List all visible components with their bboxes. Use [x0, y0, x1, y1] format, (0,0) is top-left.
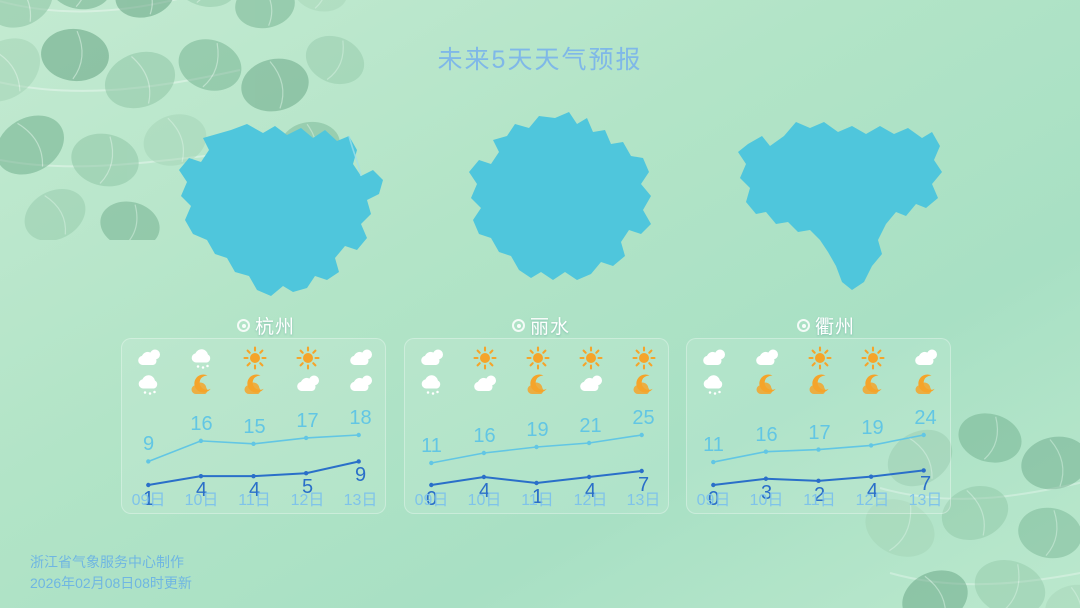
low-temp-value: 9 — [355, 464, 366, 487]
footer: 浙江省气象服务中心制作 2026年02月08日08时更新 — [30, 552, 192, 594]
weather-icons — [122, 345, 175, 401]
high-temp-line — [148, 435, 358, 461]
high-temp-value: 17 — [808, 422, 830, 445]
date-label: 13日 — [899, 486, 952, 510]
map-shape-quzhou — [738, 122, 942, 290]
weather-icons — [175, 345, 228, 401]
sun-icon — [523, 345, 553, 371]
date-label: 13日 — [334, 486, 387, 510]
moon-icon — [858, 371, 888, 397]
cloudy-icon — [699, 345, 729, 371]
weather-icons — [458, 345, 511, 401]
map-row: 杭州 丽水 衢州 — [0, 100, 1080, 320]
high-temp-value: 11 — [703, 434, 724, 457]
date-label: 12日 — [281, 486, 334, 510]
cloud-rain-icon — [134, 371, 164, 397]
sun-icon — [293, 345, 323, 371]
forecast-panel-hangzhou: 9116415417518909日10日11日12日13日 — [121, 338, 386, 514]
sun-icon — [805, 345, 835, 371]
location-pin-icon — [512, 319, 525, 332]
cloud-rain-icon — [187, 345, 217, 371]
high-temp-value: 16 — [190, 413, 212, 436]
date-label: 11日 — [511, 486, 564, 510]
sun-icon — [470, 345, 500, 371]
footer-update-time: 2026年02月08日08时更新 — [30, 573, 192, 594]
city-label-hangzhou: 杭州 — [237, 312, 295, 339]
weather-icons — [740, 345, 793, 401]
moon-icon — [911, 371, 941, 397]
high-temp-value: 17 — [296, 410, 318, 433]
moon-icon — [523, 371, 553, 397]
cloudy-icon — [346, 345, 376, 371]
cloudy-icon — [417, 345, 447, 371]
city-name: 丽水 — [530, 312, 570, 339]
map-lishui — [415, 100, 715, 320]
date-label: 10日 — [740, 486, 793, 510]
date-label: 12日 — [846, 486, 899, 510]
weather-icons — [617, 345, 670, 401]
infographic-canvas: 未来5天天气预报 杭州 丽水 衢州 — [0, 0, 1080, 608]
map-hangzhou — [135, 100, 435, 320]
cloudy-icon — [293, 371, 323, 397]
cloudy-icon — [576, 371, 606, 397]
sun-icon — [629, 345, 659, 371]
date-row: 09日10日11日12日13日 — [687, 486, 950, 508]
weather-icons — [228, 345, 281, 401]
temperature-chart — [405, 397, 668, 489]
sun-icon — [576, 345, 606, 371]
map-quzhou — [700, 100, 1000, 320]
city-name: 杭州 — [255, 312, 295, 339]
date-label: 13日 — [617, 486, 670, 510]
moon-icon — [752, 371, 782, 397]
weather-icons — [899, 345, 952, 401]
date-label: 09日 — [405, 486, 458, 510]
location-pin-icon — [237, 319, 250, 332]
cloudy-icon — [134, 345, 164, 371]
weather-icons — [564, 345, 617, 401]
forecast-panel-lishui: 11016419121425709日10日11日12日13日 — [404, 338, 669, 514]
moon-icon — [240, 371, 270, 397]
weather-icons — [405, 345, 458, 401]
city-name: 衢州 — [815, 312, 855, 339]
cloud-rain-icon — [417, 371, 447, 397]
weather-icons — [334, 345, 387, 401]
moon-icon — [805, 371, 835, 397]
date-row: 09日10日11日12日13日 — [405, 486, 668, 508]
high-temp-value: 19 — [861, 417, 883, 440]
cloudy-icon — [346, 371, 376, 397]
city-label-quzhou: 衢州 — [797, 312, 855, 339]
high-temp-value: 18 — [349, 407, 371, 430]
city-label-lishui: 丽水 — [512, 312, 570, 339]
sun-icon — [858, 345, 888, 371]
map-shape-lishui — [469, 112, 651, 280]
moon-icon — [187, 371, 217, 397]
weather-icons — [846, 345, 899, 401]
high-temp-value: 9 — [143, 433, 154, 456]
cloudy-icon — [911, 345, 941, 371]
page-title: 未来5天天气预报 — [0, 40, 1080, 76]
date-label: 11日 — [793, 486, 846, 510]
moon-icon — [629, 371, 659, 397]
date-row: 09日10日11日12日13日 — [122, 486, 385, 508]
high-temp-value: 25 — [632, 407, 654, 430]
cloudy-icon — [470, 371, 500, 397]
temperature-chart — [122, 397, 385, 489]
date-label: 09日 — [687, 486, 740, 510]
weather-icons — [687, 345, 740, 401]
date-label: 10日 — [458, 486, 511, 510]
footer-producer: 浙江省气象服务中心制作 — [30, 552, 192, 573]
high-temp-value: 19 — [526, 419, 548, 442]
high-temp-value: 21 — [579, 415, 601, 438]
high-temp-value: 24 — [914, 407, 936, 430]
high-temp-value: 15 — [243, 416, 265, 439]
weather-icons — [511, 345, 564, 401]
high-temp-value: 16 — [473, 425, 495, 448]
high-temp-value: 16 — [755, 424, 777, 447]
high-temp-value: 11 — [421, 435, 442, 458]
sun-icon — [240, 345, 270, 371]
cloud-rain-icon — [699, 371, 729, 397]
weather-icons — [793, 345, 846, 401]
location-pin-icon — [797, 319, 810, 332]
date-label: 12日 — [564, 486, 617, 510]
cloudy-icon — [752, 345, 782, 371]
weather-icons — [281, 345, 334, 401]
date-label: 11日 — [228, 486, 281, 510]
date-label: 09日 — [122, 486, 175, 510]
forecast-panel-row: 9116415417518909日10日11日12日13日 — [0, 338, 1080, 516]
forecast-panel-quzhou: 11016317219424709日10日11日12日13日 — [686, 338, 951, 514]
date-label: 10日 — [175, 486, 228, 510]
